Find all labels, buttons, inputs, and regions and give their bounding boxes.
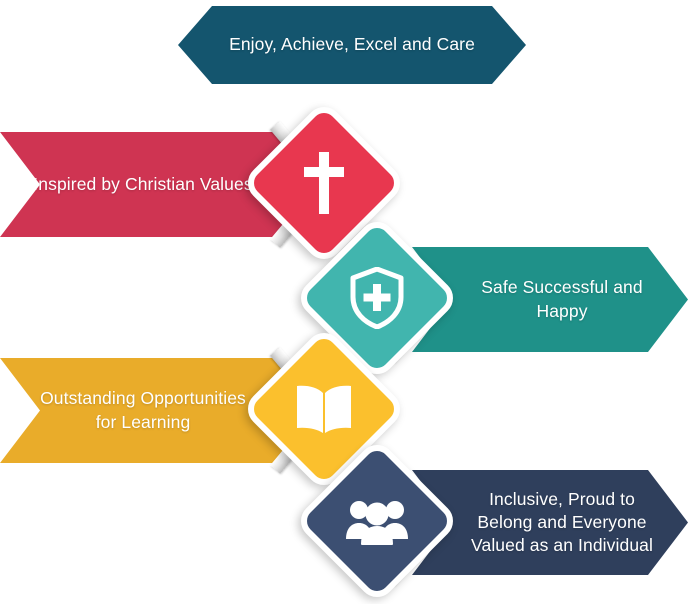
band-inclusive-label-line2: Belong and Everyone [458,511,666,534]
band-learning-label-line1: Outstanding Opportunities [26,387,260,410]
diamond-values[interactable] [265,124,383,242]
band-inclusive-label-line1: Inclusive, Proud to [458,488,666,511]
diamond-inclusive[interactable] [318,462,436,580]
band-learning-label-line2: for Learning [26,411,260,434]
header-banner-label: Enjoy, Achieve, Excel and Care [178,33,526,56]
band-inclusive-label-line3: Valued as an Individual [458,534,666,557]
header-banner: Enjoy, Achieve, Excel and Care [178,6,526,84]
diamond-shape [294,438,461,604]
values-infographic: Enjoy, Achieve, Excel and Care Inspired … [0,0,688,572]
